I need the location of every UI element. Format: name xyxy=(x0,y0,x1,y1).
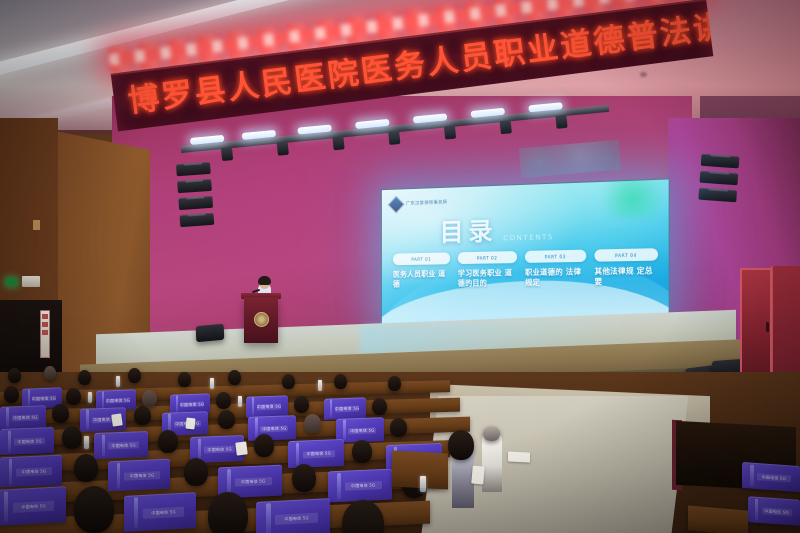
attendee-head xyxy=(134,406,151,425)
attendee-head xyxy=(334,374,347,389)
water-bottle xyxy=(318,380,322,391)
slide-logo-text: 广东汉章律师事务所 xyxy=(406,199,447,206)
seat-brand-label: 中国电信 5G xyxy=(16,467,52,476)
par-can-icon xyxy=(500,120,512,134)
speaker-cabinet xyxy=(178,196,213,210)
slide-item-caption: 医务人员职业 道德 xyxy=(393,269,450,288)
attendee-head xyxy=(78,370,91,385)
attendee-head xyxy=(390,418,407,437)
slide-item-caption: 其他法律规 定总要 xyxy=(594,266,658,286)
seat-cover: 中国电信 5G xyxy=(246,395,288,417)
handout-paper xyxy=(111,413,123,426)
slide-leaf-decoration-icon xyxy=(589,178,662,219)
line-array-speaker-right xyxy=(698,149,740,204)
seat-brand-label: 中国电信 5G xyxy=(345,481,382,491)
attendee-head xyxy=(282,374,295,389)
seat-cover: 中国电信 5G xyxy=(742,462,800,492)
slide-subtitle: CONTENTS xyxy=(503,233,554,247)
seat-cover: 中国电信 5G xyxy=(0,405,46,430)
seat-cover: 中国电信 5G xyxy=(0,455,62,488)
auditorium-photo: 博罗县人民医院医务人员职业道德普法讲座 xyxy=(0,0,800,533)
fire-panel-mark xyxy=(42,330,48,335)
slide-content: 广东汉章律师事务所 目录 CONTENTS PART 01 医务人员职业 道德 … xyxy=(382,179,669,325)
attendee-head xyxy=(352,440,372,463)
seat-brand-label: 中国电信 5G xyxy=(108,442,139,450)
seat-brand-label: 中国电信 5G xyxy=(143,507,185,519)
par-can-icon xyxy=(444,126,456,140)
par-can-icon xyxy=(388,131,400,145)
par-can-icon xyxy=(277,142,289,156)
seat-cover: 中国电信 5G xyxy=(256,498,330,533)
attendee-head xyxy=(74,486,114,533)
water-bottle xyxy=(210,378,214,389)
exit-sign-icon xyxy=(6,278,17,286)
attendee-head xyxy=(44,366,56,380)
attendee-head xyxy=(184,458,208,486)
slide-item: PART 04 其他法律规 定总要 xyxy=(594,248,658,286)
seat-cover: 中国电信 5G xyxy=(288,439,344,468)
seat-brand-label: 中国电信 5G xyxy=(235,477,272,487)
seat-brand-label: 中国电信 5G xyxy=(14,438,45,446)
attendee-head xyxy=(62,426,82,449)
attendee-head xyxy=(74,454,98,482)
attendee-head xyxy=(216,392,231,409)
attendee-head xyxy=(292,464,316,492)
water-bottle xyxy=(84,436,89,449)
attendee-head xyxy=(304,414,321,433)
attendee-head xyxy=(448,430,474,460)
presentation-screen: 广东汉章律师事务所 目录 CONTENTS PART 01 医务人员职业 道德 … xyxy=(381,178,670,326)
water-bottle xyxy=(238,396,242,407)
seat-brand-label: 中国电信 5G xyxy=(12,415,39,422)
attendee-head xyxy=(52,404,69,423)
attendee-head xyxy=(8,368,21,383)
seat-brand-label: 中国电信 5G xyxy=(180,402,203,408)
seat-brand-label: 中国电信 5G xyxy=(257,404,281,410)
fire-panel-mark xyxy=(42,314,48,319)
attendee-head xyxy=(178,372,191,387)
par-can-icon xyxy=(555,115,567,129)
presenter-hair xyxy=(258,276,271,285)
seat-cover: 中国电信 5G xyxy=(94,431,148,459)
water-bottle xyxy=(116,376,120,387)
seat-brand-label: 中国电信 5G xyxy=(348,427,376,434)
attendee-head xyxy=(388,376,401,391)
attendee-head xyxy=(128,368,141,383)
seat-brand-label: 中国电信 5G xyxy=(32,396,55,402)
slide-contents-list: PART 01 医务人员职业 道德 PART 02 学习医务职业 道德的目的 P… xyxy=(393,248,658,288)
seat-brand-label: 中国电信 5G xyxy=(757,473,791,482)
slide-item: PART 02 学习医务职业 道德的目的 xyxy=(458,251,517,288)
slide-logo: 广东汉章律师事务所 xyxy=(390,196,447,212)
handout-paper xyxy=(185,418,195,430)
seat-cover: 中国电信 5G xyxy=(108,459,170,492)
par-can-icon xyxy=(332,136,344,150)
attendee-head xyxy=(294,396,309,413)
slide-item-pill: PART 02 xyxy=(458,251,517,264)
speaker-cabinet xyxy=(700,171,739,186)
speaker-cabinet xyxy=(698,188,737,203)
seat-brand-label: 中国电信 5G xyxy=(106,398,129,404)
handout-paper xyxy=(235,441,248,455)
right-wall-door-panel[interactable] xyxy=(771,266,800,376)
speaker-cabinet xyxy=(180,213,215,227)
slide-item-pill: PART 01 xyxy=(393,252,450,265)
fire-equipment-panel xyxy=(40,310,50,358)
seat-brand-label: 中国电信 5G xyxy=(762,508,792,517)
seat-brand-label: 中国电信 5G xyxy=(260,425,288,432)
line-array-speaker-left xyxy=(176,157,215,229)
seat-cover: 中国电信 5G xyxy=(248,415,296,441)
speaker-cabinet xyxy=(176,162,211,176)
water-bottle xyxy=(88,392,92,403)
par-can-icon xyxy=(221,147,233,161)
slide-title-row: 目录 CONTENTS xyxy=(440,210,554,249)
fire-panel-mark xyxy=(42,322,48,327)
standing-attendee xyxy=(482,434,502,492)
slide-item-pill: PART 04 xyxy=(594,248,658,262)
podium-emblem-icon xyxy=(254,312,269,327)
attendee-head xyxy=(218,410,235,429)
attendee-head xyxy=(228,370,241,385)
attendee-head xyxy=(4,386,19,403)
desk-document xyxy=(508,451,530,462)
seat-cover: 中国电信 5G xyxy=(124,492,196,532)
wall-control-box xyxy=(22,276,40,287)
water-bottle xyxy=(420,476,426,492)
attendee-head xyxy=(158,430,178,453)
slide-item: PART 01 医务人员职业 道德 xyxy=(393,252,450,288)
attendee-head xyxy=(208,492,248,533)
speaker-cabinet xyxy=(177,179,212,193)
seat-brand-label: 中国电信 5G xyxy=(13,501,55,513)
attendee-head xyxy=(142,390,157,407)
seat-cover: 中国电信 5G xyxy=(324,397,366,419)
seat-brand-label: 中国电信 5G xyxy=(124,471,160,480)
attendee-head xyxy=(483,426,500,441)
attendee-head xyxy=(254,434,274,457)
door-handle-icon[interactable] xyxy=(766,322,769,332)
speaker-cabinet xyxy=(701,154,740,169)
attendee-head xyxy=(372,398,387,415)
slide-item: PART 03 职业道德的 法律规定 xyxy=(525,250,586,287)
diamond-logo-icon xyxy=(388,195,405,213)
seat-cover: 中国电信 5G xyxy=(0,486,66,526)
seat-cover: 中国电信 5G xyxy=(748,496,800,526)
slide-title: 目录 xyxy=(440,212,498,249)
seat-cover: 中国电信 5G xyxy=(0,427,54,455)
attendee-head xyxy=(66,388,81,405)
desk-row-far-right xyxy=(688,505,748,533)
handout-paper xyxy=(471,466,485,485)
wall-fixture-icon xyxy=(33,220,40,230)
seat-brand-label: 中国电信 5G xyxy=(204,446,235,454)
seat-cover: 中国电信 5G xyxy=(328,469,392,503)
slide-item-caption: 学习医务职业 道德的目的 xyxy=(458,268,517,288)
stage-monitor-speaker xyxy=(196,324,225,342)
seat-brand-label: 中国电信 5G xyxy=(303,450,335,458)
slide-item-pill: PART 03 xyxy=(525,250,586,263)
seat-brand-label: 中国电信 5G xyxy=(335,406,359,412)
seat-brand-label: 中国电信 5G xyxy=(275,513,318,525)
slide-item-caption: 职业道德的 法律规定 xyxy=(525,267,586,287)
right-exit-door[interactable] xyxy=(740,268,772,374)
